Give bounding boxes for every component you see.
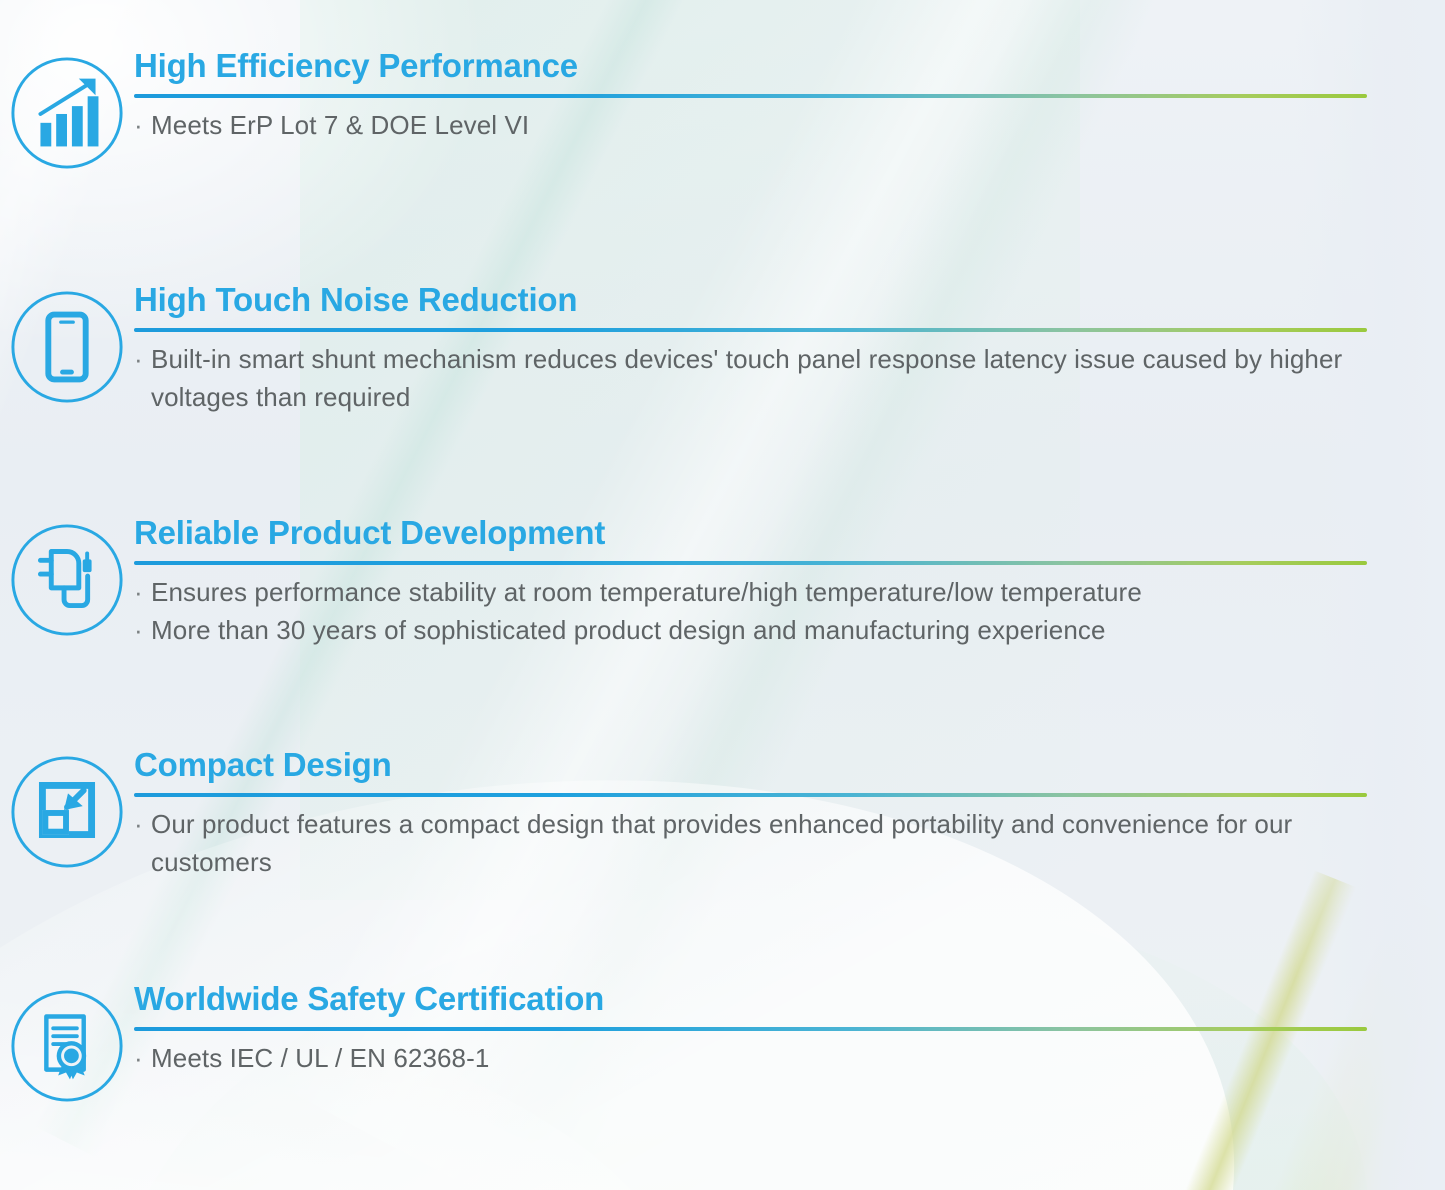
bullet-text: Built-in smart shunt mechanism reduces d… [151, 341, 1367, 416]
feature-icon-slot [0, 515, 134, 639]
feature-item-worldwide-safety-certification: Worldwide Safety Certification · Meets I… [0, 981, 1445, 1105]
compact-resize-icon [8, 753, 126, 871]
list-item: · Our product features a compact design … [134, 806, 1367, 881]
list-item: · More than 30 years of sophisticated pr… [134, 612, 1367, 650]
feature-title: High Touch Noise Reduction [134, 282, 1367, 319]
feature-title: Worldwide Safety Certification [134, 981, 1367, 1018]
feature-content: Worldwide Safety Certification · Meets I… [134, 981, 1445, 1078]
feature-title: Compact Design [134, 747, 1367, 784]
feature-divider [134, 328, 1367, 332]
feature-content: High Touch Noise Reduction · Built-in sm… [134, 282, 1445, 416]
list-item: · Built-in smart shunt mechanism reduces… [134, 341, 1367, 416]
list-item: · Meets IEC / UL / EN 62368-1 [134, 1040, 1367, 1078]
feature-icon-slot [0, 981, 134, 1105]
feature-icon-slot [0, 747, 134, 871]
feature-content: Compact Design · Our product features a … [134, 747, 1445, 881]
power-adapter-icon [8, 521, 126, 639]
feature-content: Reliable Product Development · Ensures p… [134, 515, 1445, 649]
feature-bullet-list: · Ensures performance stability at room … [134, 574, 1367, 649]
feature-divider [134, 793, 1367, 797]
feature-title: High Efficiency Performance [134, 48, 1367, 85]
feature-content: High Efficiency Performance · Meets ErP … [134, 48, 1445, 145]
feature-divider [134, 94, 1367, 98]
feature-bullet-list: · Meets ErP Lot 7 & DOE Level VI [134, 107, 1367, 145]
feature-bullet-list: · Our product features a compact design … [134, 806, 1367, 881]
feature-item-reliable-product-development: Reliable Product Development · Ensures p… [0, 515, 1445, 649]
bullet-marker: · [134, 612, 151, 650]
bullet-text: Ensures performance stability at room te… [151, 574, 1367, 612]
bullet-marker: · [134, 574, 151, 612]
feature-bullet-list: · Built-in smart shunt mechanism reduces… [134, 341, 1367, 416]
feature-item-compact-design: Compact Design · Our product features a … [0, 747, 1445, 881]
certificate-award-icon [8, 987, 126, 1105]
feature-title: Reliable Product Development [134, 515, 1367, 552]
feature-divider [134, 561, 1367, 565]
feature-icon-slot [0, 282, 134, 406]
feature-item-high-touch-noise-reduction: High Touch Noise Reduction · Built-in sm… [0, 282, 1445, 416]
bullet-text: Meets ErP Lot 7 & DOE Level VI [151, 107, 1367, 145]
bullet-marker: · [134, 806, 151, 844]
list-item: · Ensures performance stability at room … [134, 574, 1367, 612]
smartphone-icon [8, 288, 126, 406]
bullet-marker: · [134, 107, 151, 145]
feature-item-high-efficiency-performance: High Efficiency Performance · Meets ErP … [0, 48, 1445, 172]
bullet-marker: · [134, 1040, 151, 1078]
feature-bullet-list: · Meets IEC / UL / EN 62368-1 [134, 1040, 1367, 1078]
feature-divider [134, 1027, 1367, 1031]
feature-icon-slot [0, 48, 134, 172]
bullet-text: Meets IEC / UL / EN 62368-1 [151, 1040, 1367, 1078]
bullet-text: Our product features a compact design th… [151, 806, 1367, 881]
bar-chart-growth-icon [8, 54, 126, 172]
bullet-text: More than 30 years of sophisticated prod… [151, 612, 1367, 650]
bullet-marker: · [134, 341, 151, 379]
feature-list-page: High Efficiency Performance · Meets ErP … [0, 0, 1445, 1190]
list-item: · Meets ErP Lot 7 & DOE Level VI [134, 107, 1367, 145]
